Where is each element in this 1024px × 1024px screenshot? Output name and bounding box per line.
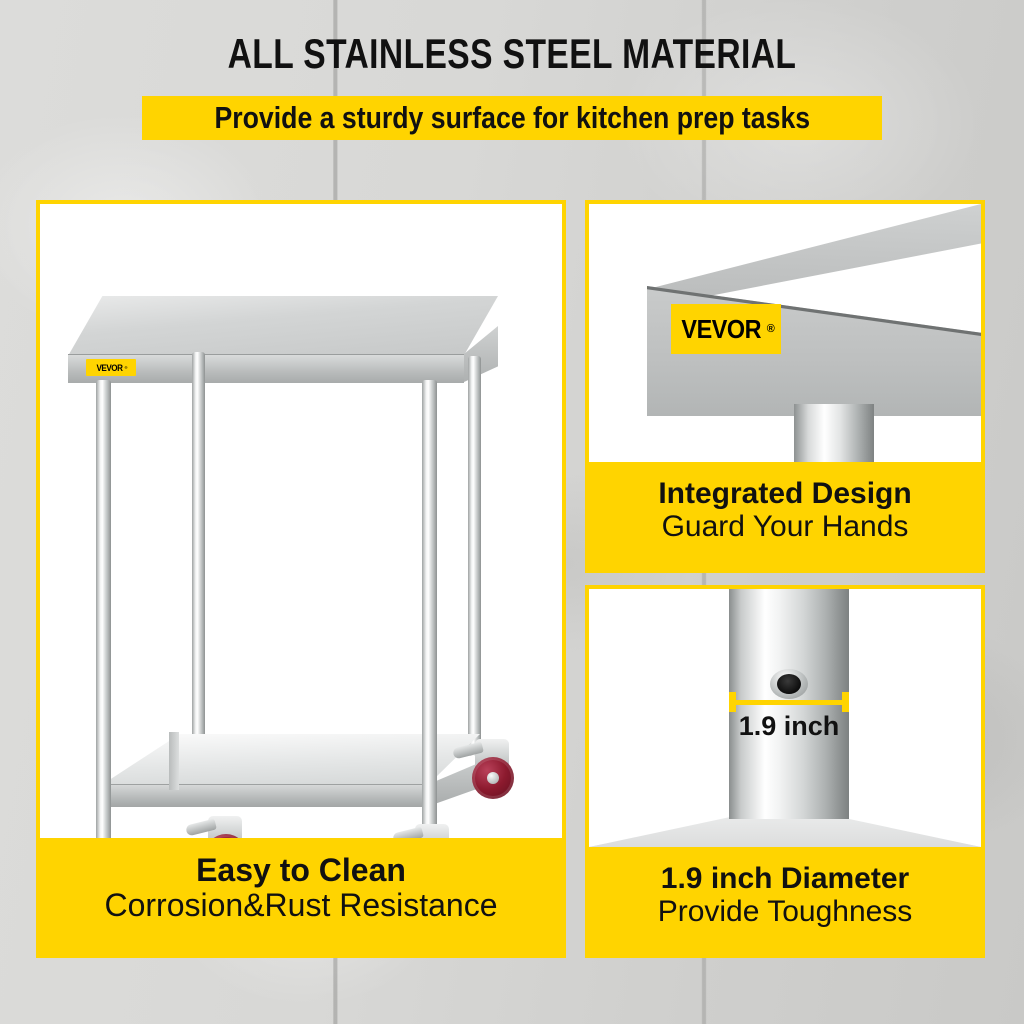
product-photo-full-table: VEVOR®	[40, 204, 562, 838]
caption-heading: Integrated Design	[585, 478, 985, 510]
caption-diameter: 1.9 inch Diameter Provide Toughness	[585, 863, 985, 928]
vevor-wordmark: VEVOR	[682, 314, 762, 345]
page-title: ALL STAINLESS STEEL MATERIAL	[102, 30, 921, 78]
vevor-logo-badge-table: VEVOR®	[86, 359, 136, 376]
leg-diameter-illustration: 1.9 inch	[589, 589, 981, 847]
panel-easy-to-clean: VEVOR®	[36, 200, 566, 958]
dimension-line	[729, 697, 849, 707]
caption-heading: 1.9 inch Diameter	[585, 863, 985, 895]
undershelf-front-edge	[100, 784, 430, 807]
vevor-wordmark: VEVOR	[96, 363, 122, 373]
dimension-cap-right	[842, 692, 849, 712]
caster-wheel-front-right	[405, 824, 461, 838]
caster-wheel-back-right	[465, 739, 521, 805]
caster-wheel-back-left	[198, 816, 254, 838]
table-leg-front-left	[96, 380, 111, 838]
dimension-rule	[729, 700, 849, 705]
caption-subtext: Guard Your Hands	[585, 510, 985, 544]
table-top-surface	[68, 296, 498, 356]
caption-integrated-design: Integrated Design Guard Your Hands	[585, 478, 985, 543]
corner-support-leg	[794, 404, 874, 462]
product-photo-leg-diameter: 1.9 inch	[589, 589, 981, 847]
bolt-hole	[777, 674, 801, 694]
registered-mark: ®	[125, 366, 128, 370]
caption-heading: Easy to Clean	[36, 854, 566, 888]
dimension-label: 1.9 inch	[709, 711, 869, 742]
caster-hub	[487, 772, 499, 784]
panel-diameter: 1.9 inch 1.9 inch Diameter Provide Tough…	[585, 585, 985, 958]
product-photo-corner-closeup: VEVOR®	[589, 204, 981, 462]
vevor-logo-badge-closeup: VEVOR®	[671, 304, 781, 354]
corner-top-surface	[647, 204, 981, 308]
table-leg-front-right	[422, 380, 437, 838]
table-leg-back-right	[468, 356, 481, 756]
registered-mark: ®	[767, 323, 775, 335]
table-corner-illustration: VEVOR®	[589, 204, 981, 462]
product-infographic: ALL STAINLESS STEEL MATERIAL Provide a s…	[0, 0, 1024, 1024]
subtitle-banner: Provide a sturdy surface for kitchen pre…	[142, 96, 882, 140]
panel-integrated-design: VEVOR® Integrated Design Guard Your Hand…	[585, 200, 985, 573]
floor-center	[589, 817, 981, 847]
subtitle-text: Provide a sturdy surface for kitchen pre…	[214, 100, 810, 136]
table-leg-back-left	[192, 352, 205, 770]
caster-brake-lever	[392, 827, 424, 838]
caption-subtext: Corrosion&Rust Resistance	[36, 888, 566, 924]
stainless-work-table-illustration: VEVOR®	[40, 204, 562, 838]
caption-subtext: Provide Toughness	[585, 895, 985, 929]
caption-easy-to-clean: Easy to Clean Corrosion&Rust Resistance	[36, 854, 566, 923]
undershelf-left-lip	[169, 732, 179, 790]
